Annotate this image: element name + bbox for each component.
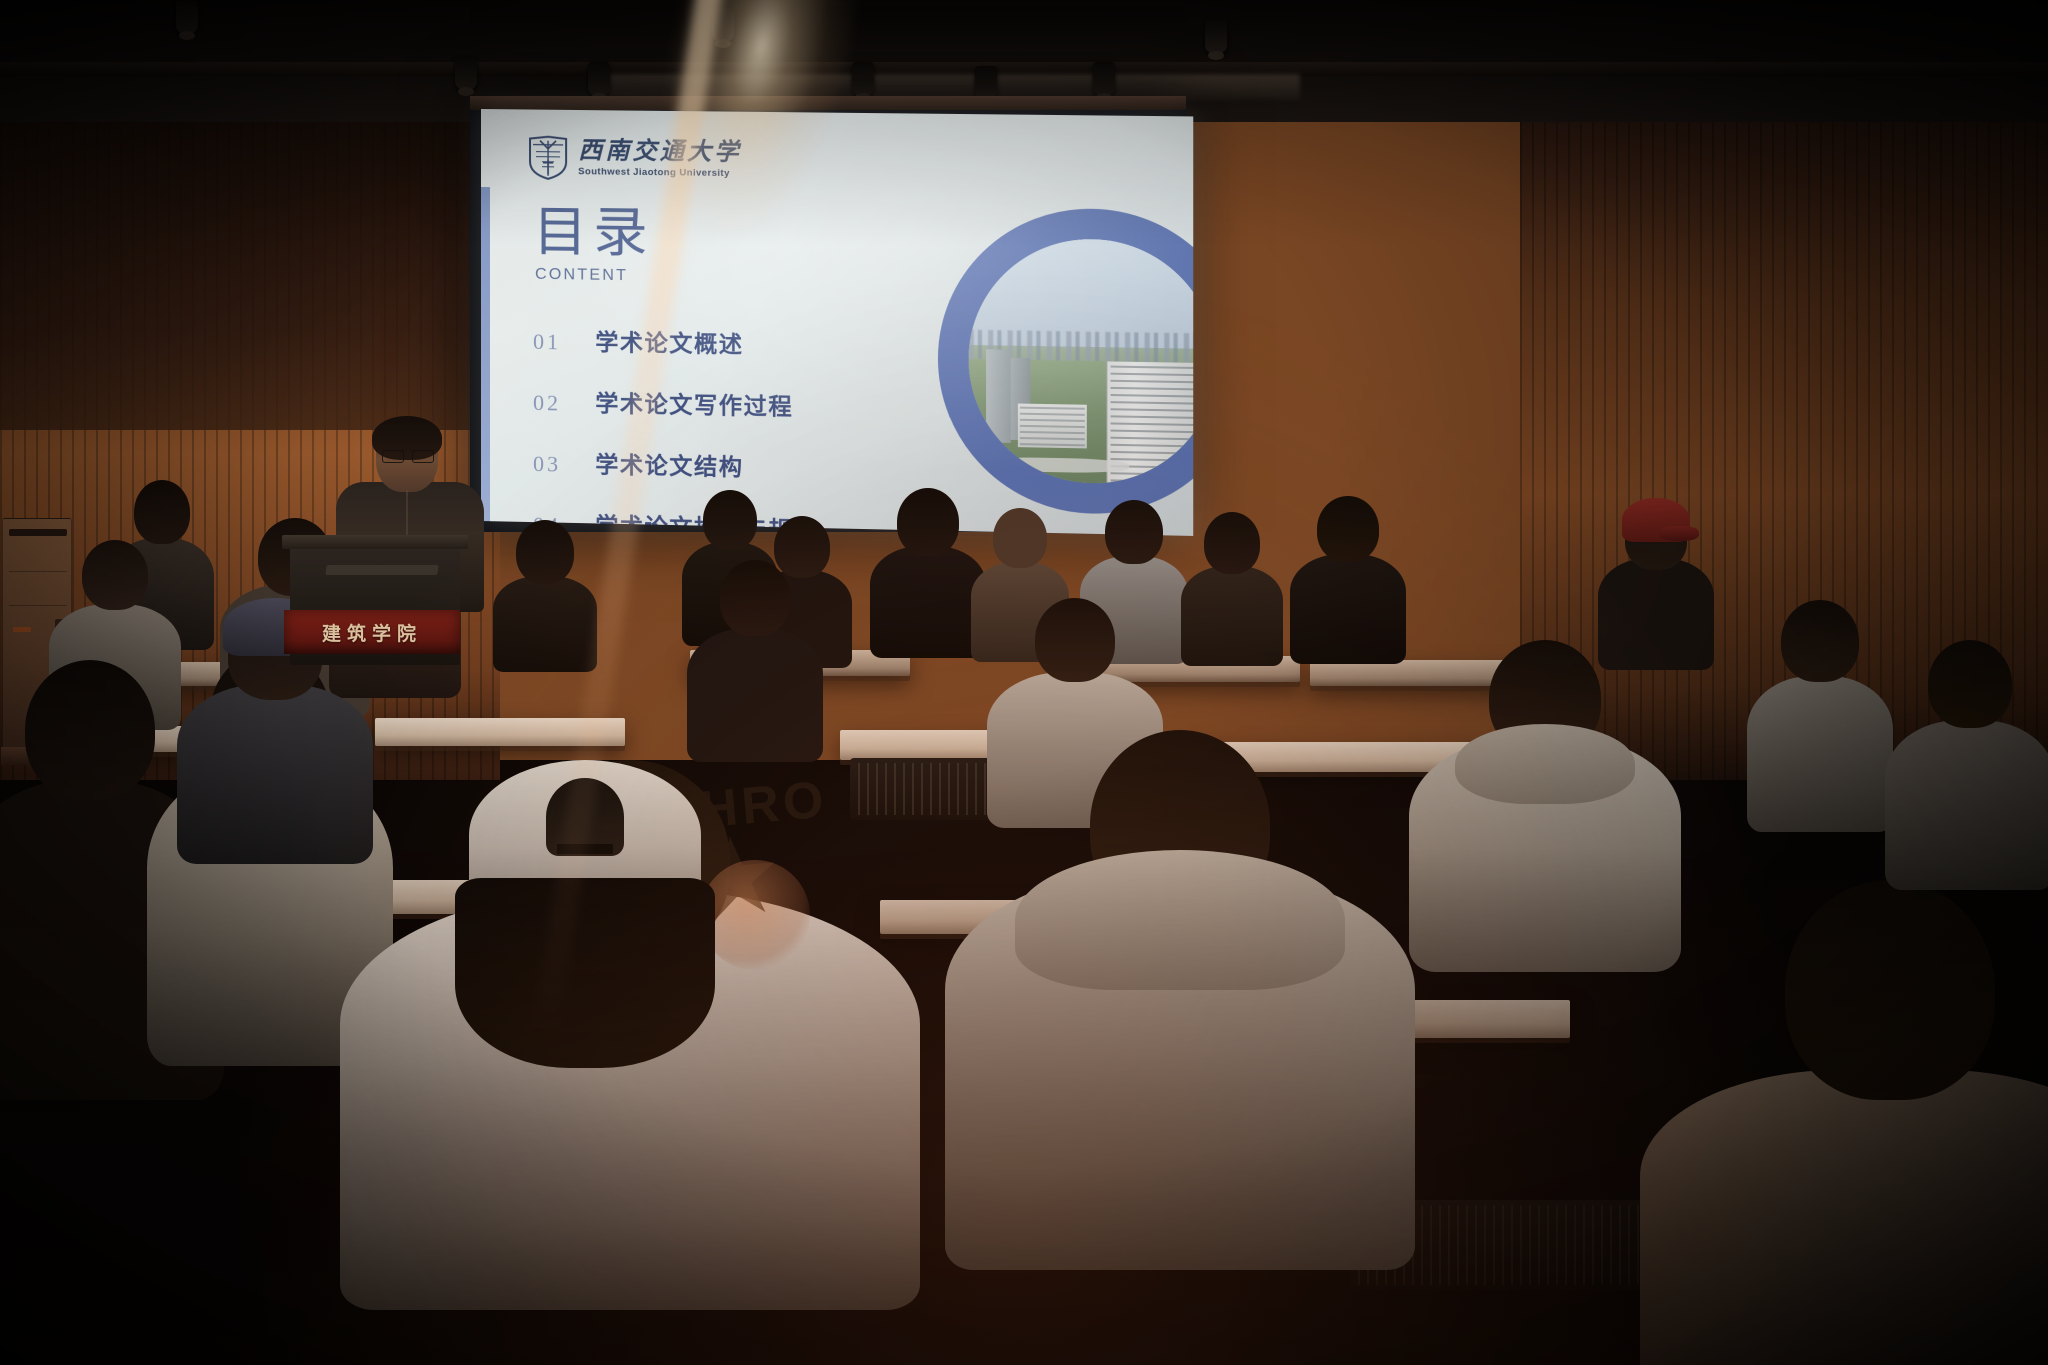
head [516, 520, 574, 584]
foreground-backwards-cap-person [470, 760, 700, 1060]
left-wall-shadow [0, 100, 500, 430]
head [897, 488, 959, 556]
lecture-hall-scene: 西南交通大学 Southwest Jiaotong University 目录 … [0, 0, 2048, 1365]
head [1204, 512, 1260, 574]
audience-member-red-cap [1608, 500, 1704, 660]
spotlight-icon [455, 56, 477, 90]
list-item-label: 学术论文结构 [595, 445, 743, 482]
audience-member [500, 520, 590, 660]
head [1781, 600, 1859, 682]
torso [1640, 1070, 2048, 1365]
campus-photo-ring-graphic [938, 207, 1193, 517]
torso [1181, 566, 1283, 666]
head [134, 480, 190, 544]
head [1317, 496, 1379, 562]
spotlight-icon [975, 66, 997, 100]
torso [1885, 720, 2048, 890]
logo-chinese-name: 西南交通大学 [578, 139, 741, 165]
hair-under-cap [455, 878, 715, 1068]
head [1105, 500, 1163, 564]
head [1928, 640, 2012, 728]
torso [493, 576, 597, 672]
podium-banner-text: 建筑学院 [322, 619, 422, 646]
cap-strap [557, 844, 613, 854]
jacket-smiley-icon [700, 860, 810, 970]
torso [870, 546, 986, 658]
university-logo: 西南交通大学 Southwest Jiaotong University [528, 136, 742, 183]
list-item: 03 学术论文结构 [533, 444, 969, 487]
head [993, 508, 1047, 568]
podium-banner: 建筑学院 [284, 610, 460, 654]
list-item-number: 02 [533, 390, 595, 417]
campus-aerial-photo [969, 238, 1194, 486]
hood [1015, 850, 1345, 990]
ac-led-indicator [13, 627, 31, 632]
spotlight-icon [712, 8, 734, 42]
hood [1455, 724, 1635, 804]
logo-english-name: Southwest Jiaotong University [578, 166, 741, 179]
cap-brim [1659, 526, 1699, 541]
list-item-label: 学术论文写作过程 [595, 384, 793, 422]
head [703, 490, 757, 550]
head [720, 560, 790, 636]
audience-member-foreground-far-right [1680, 880, 2048, 1365]
spotlight-icon [176, 0, 198, 34]
list-item-label: 学术论文概述 [595, 323, 743, 360]
list-item-number: 03 [533, 451, 595, 478]
torso [177, 684, 373, 864]
projection-screen: 西南交通大学 Southwest Jiaotong University 目录 … [481, 109, 1193, 536]
head [1035, 598, 1115, 682]
torso [1747, 676, 1893, 832]
glasses-icon [382, 450, 434, 462]
spotlight-icon [1093, 62, 1115, 96]
ac-grille [9, 529, 67, 536]
audience-member-grey-hoodie [1430, 640, 1660, 960]
list-item: 02 学术论文写作过程 [533, 383, 969, 425]
audience-member-foreground-right [980, 690, 1380, 1190]
audience-member [1190, 512, 1274, 656]
audience-member [1760, 600, 1880, 820]
projection-screen-roller [470, 96, 1186, 110]
head [1785, 880, 1995, 1100]
audience-member [880, 488, 976, 648]
head [82, 540, 148, 610]
audience-member [1900, 640, 2040, 880]
slide-title-chinese: 目录 [533, 205, 654, 261]
spotlight-icon [1205, 20, 1227, 54]
torso [1290, 554, 1406, 664]
list-item: 01 学术论文概述 [533, 322, 969, 363]
list-item-number: 01 [533, 329, 595, 356]
university-crest-icon [528, 136, 568, 181]
slide-title-english: CONTENT [535, 266, 628, 285]
audience-member [1300, 496, 1396, 654]
laptop [325, 565, 438, 575]
head [25, 660, 155, 800]
spotlight-icon [852, 62, 874, 96]
spotlight-icon [588, 62, 610, 96]
